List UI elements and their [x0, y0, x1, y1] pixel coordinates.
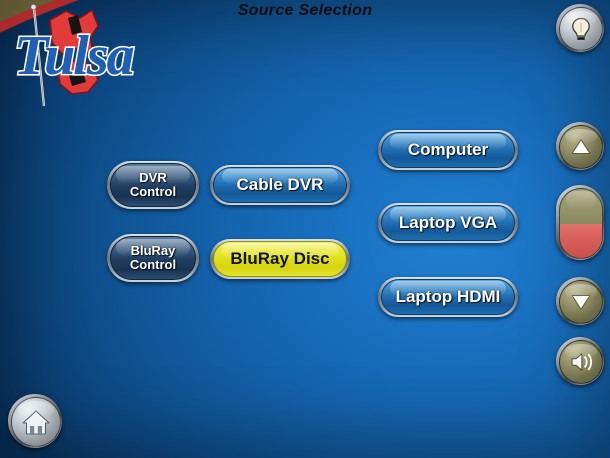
dvr-control-label-line2: Control	[130, 184, 176, 199]
svg-text:Tulsa: Tulsa	[14, 25, 134, 87]
source-bluray-disc-label: BluRay Disc	[230, 250, 329, 268]
triangle-up-icon	[568, 134, 594, 160]
page-title: Source Selection	[0, 2, 610, 20]
volume-level-indicator[interactable]	[556, 185, 604, 260]
mute-button[interactable]	[556, 337, 604, 385]
source-laptop-hdmi-button[interactable]: Laptop HDMI	[378, 277, 518, 317]
bluray-control-button[interactable]: BluRay Control	[107, 234, 199, 282]
bluray-control-label-line2: Control	[130, 257, 176, 272]
volume-level-fill	[560, 224, 602, 259]
home-button[interactable]	[8, 394, 62, 448]
source-cable-dvr-button[interactable]: Cable DVR	[210, 165, 350, 205]
volume-up-button[interactable]	[556, 122, 604, 170]
speaker-mute-icon	[568, 349, 594, 375]
source-laptop-vga-button[interactable]: Laptop VGA	[378, 203, 518, 243]
source-computer-button[interactable]: Computer	[378, 130, 518, 170]
dvr-control-button[interactable]: DVR Control	[107, 161, 199, 209]
triangle-down-icon	[568, 289, 594, 315]
touch-panel-screen: Tulsa Tulsa Source Selection DVR Control…	[0, 0, 610, 458]
source-laptop-hdmi-label: Laptop HDMI	[396, 288, 501, 306]
source-bluray-disc-button[interactable]: BluRay Disc	[210, 239, 350, 279]
home-icon	[20, 406, 52, 438]
source-laptop-vga-label: Laptop VGA	[399, 214, 497, 232]
source-cable-dvr-label: Cable DVR	[237, 176, 324, 194]
source-computer-label: Computer	[408, 141, 488, 159]
volume-down-button[interactable]	[556, 277, 604, 325]
